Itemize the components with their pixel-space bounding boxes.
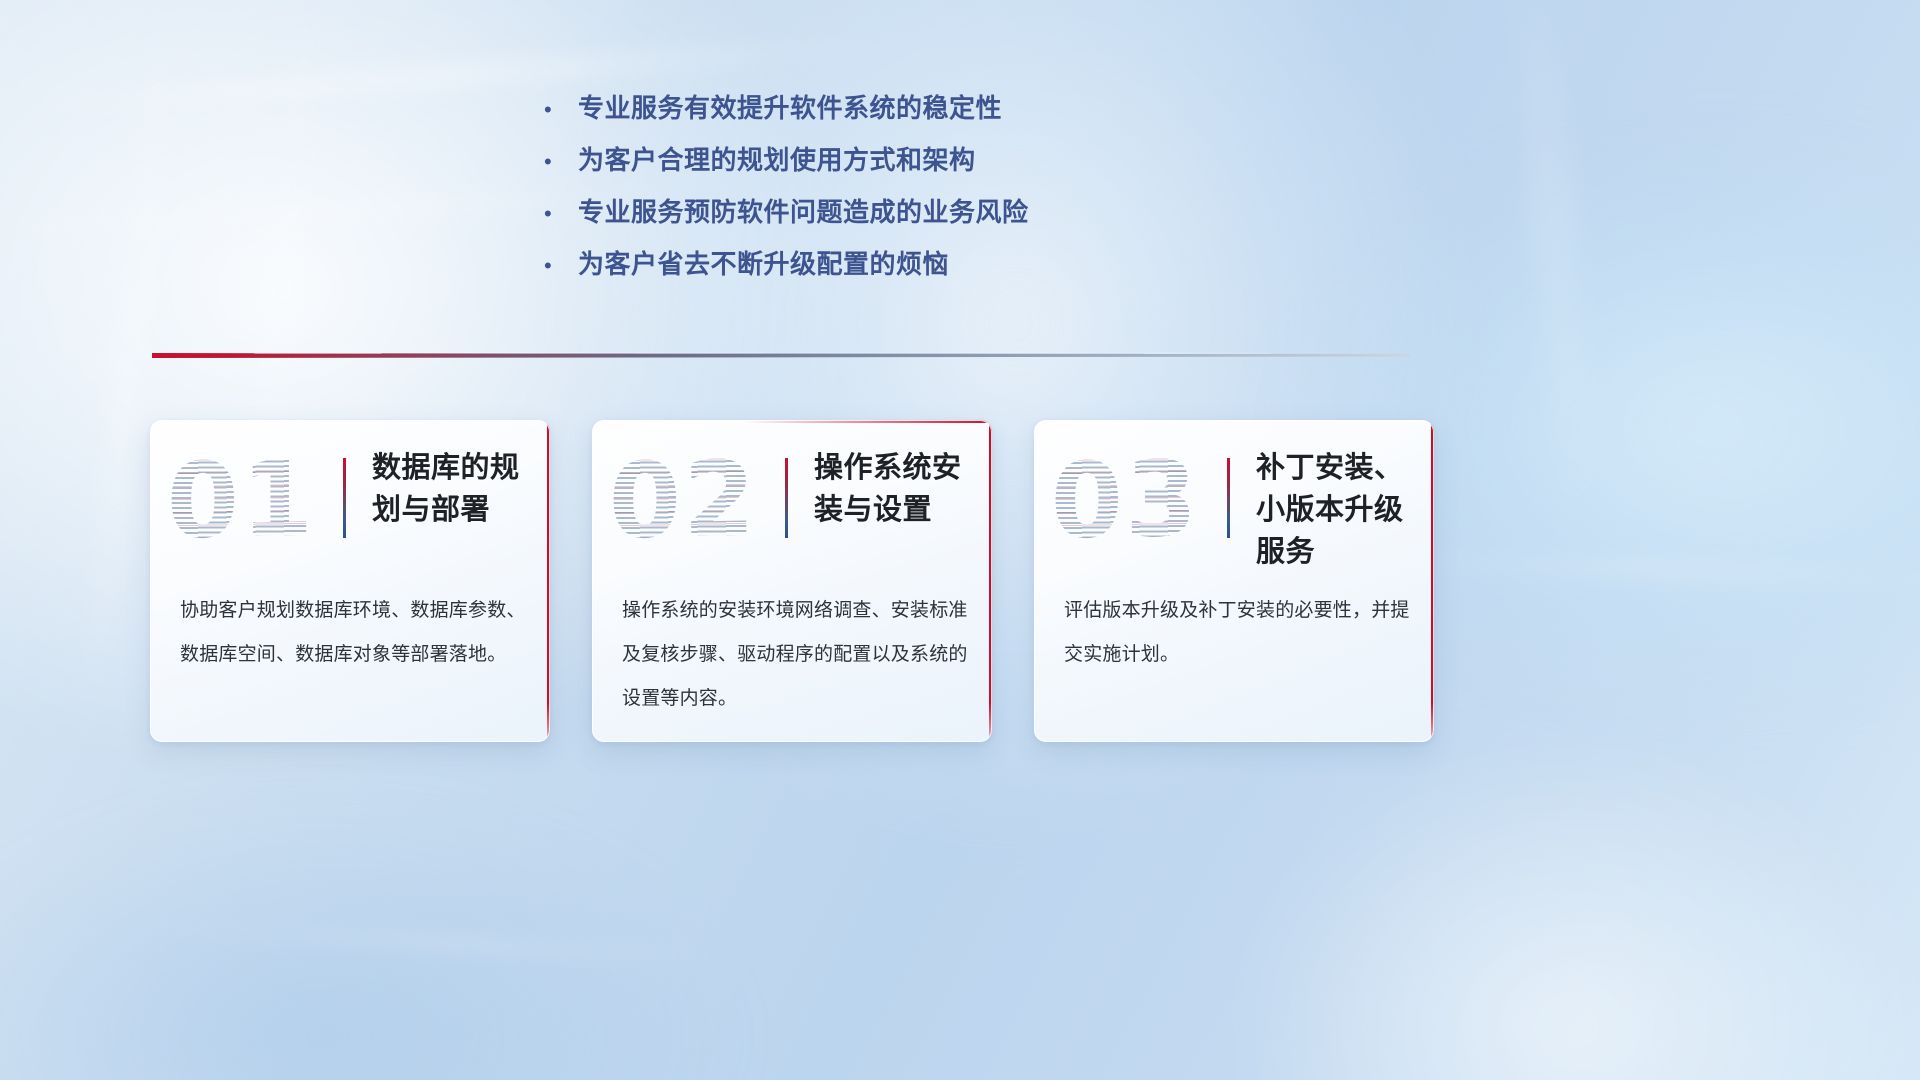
divider-highlight xyxy=(152,352,1410,354)
list-item: • 专业服务有效提升软件系统的稳定性 xyxy=(540,88,1380,140)
bullet-marker-icon: • xyxy=(540,255,578,277)
list-item: • 为客户合理的规划使用方式和架构 xyxy=(540,140,1380,192)
bullet-text: 为客户合理的规划使用方式和架构 xyxy=(578,140,976,177)
service-card-02[interactable]: 02 02 操作系统安装与设置 操作系统的安装环境网络调查、安装标准及复核步骤、… xyxy=(592,420,992,742)
card-title-rule xyxy=(785,458,788,538)
service-card-03[interactable]: 03 03 补丁安装、小版本升级服务 评估版本升级及补丁安装的必要性，并提交实施… xyxy=(1034,420,1434,742)
card-description: 评估版本升级及补丁安装的必要性，并提交实施计划。 xyxy=(1064,588,1412,676)
bullet-text: 为客户省去不断升级配置的烦恼 xyxy=(578,244,949,281)
card-title-rule xyxy=(343,458,346,538)
benefits-bullet-list: • 专业服务有效提升软件系统的稳定性 • 为客户合理的规划使用方式和架构 • 专… xyxy=(540,88,1380,296)
service-card-01[interactable]: 01 01 数据库的规划与部署 协助客户规划数据库环境、数据库参数、数据库空间、… xyxy=(150,420,550,742)
card-header: 03 03 补丁安装、小版本升级服务 xyxy=(1034,420,1434,578)
card-title: 数据库的规划与部署 xyxy=(372,446,542,530)
card-title: 补丁安装、小版本升级服务 xyxy=(1256,446,1426,572)
bullet-marker-icon: • xyxy=(540,151,578,173)
service-card-group: 01 01 数据库的规划与部署 协助客户规划数据库环境、数据库参数、数据库空间、… xyxy=(150,420,1434,742)
bullet-marker-icon: • xyxy=(540,203,578,225)
card-header: 01 01 数据库的规划与部署 xyxy=(150,420,550,578)
list-item: • 专业服务预防软件问题造成的业务风险 xyxy=(540,192,1380,244)
card-title: 操作系统安装与设置 xyxy=(814,446,984,530)
bullet-text: 专业服务有效提升软件系统的稳定性 xyxy=(578,88,1002,125)
card-number-watermark-tint: 01 xyxy=(166,445,316,556)
card-number-watermark-tint: 02 xyxy=(608,445,758,556)
bullet-text: 专业服务预防软件问题造成的业务风险 xyxy=(578,192,1029,229)
list-item: • 为客户省去不断升级配置的烦恼 xyxy=(540,244,1380,296)
card-number-watermark-tint: 03 xyxy=(1050,445,1200,556)
card-description: 操作系统的安装环境网络调查、安装标准及复核步骤、驱动程序的配置以及系统的设置等内… xyxy=(622,588,970,720)
card-header: 02 02 操作系统安装与设置 xyxy=(592,420,992,578)
card-title-rule xyxy=(1227,458,1230,538)
bullet-marker-icon: • xyxy=(540,99,578,121)
section-divider xyxy=(152,345,1410,367)
card-description: 协助客户规划数据库环境、数据库参数、数据库空间、数据库对象等部署落地。 xyxy=(180,588,528,676)
